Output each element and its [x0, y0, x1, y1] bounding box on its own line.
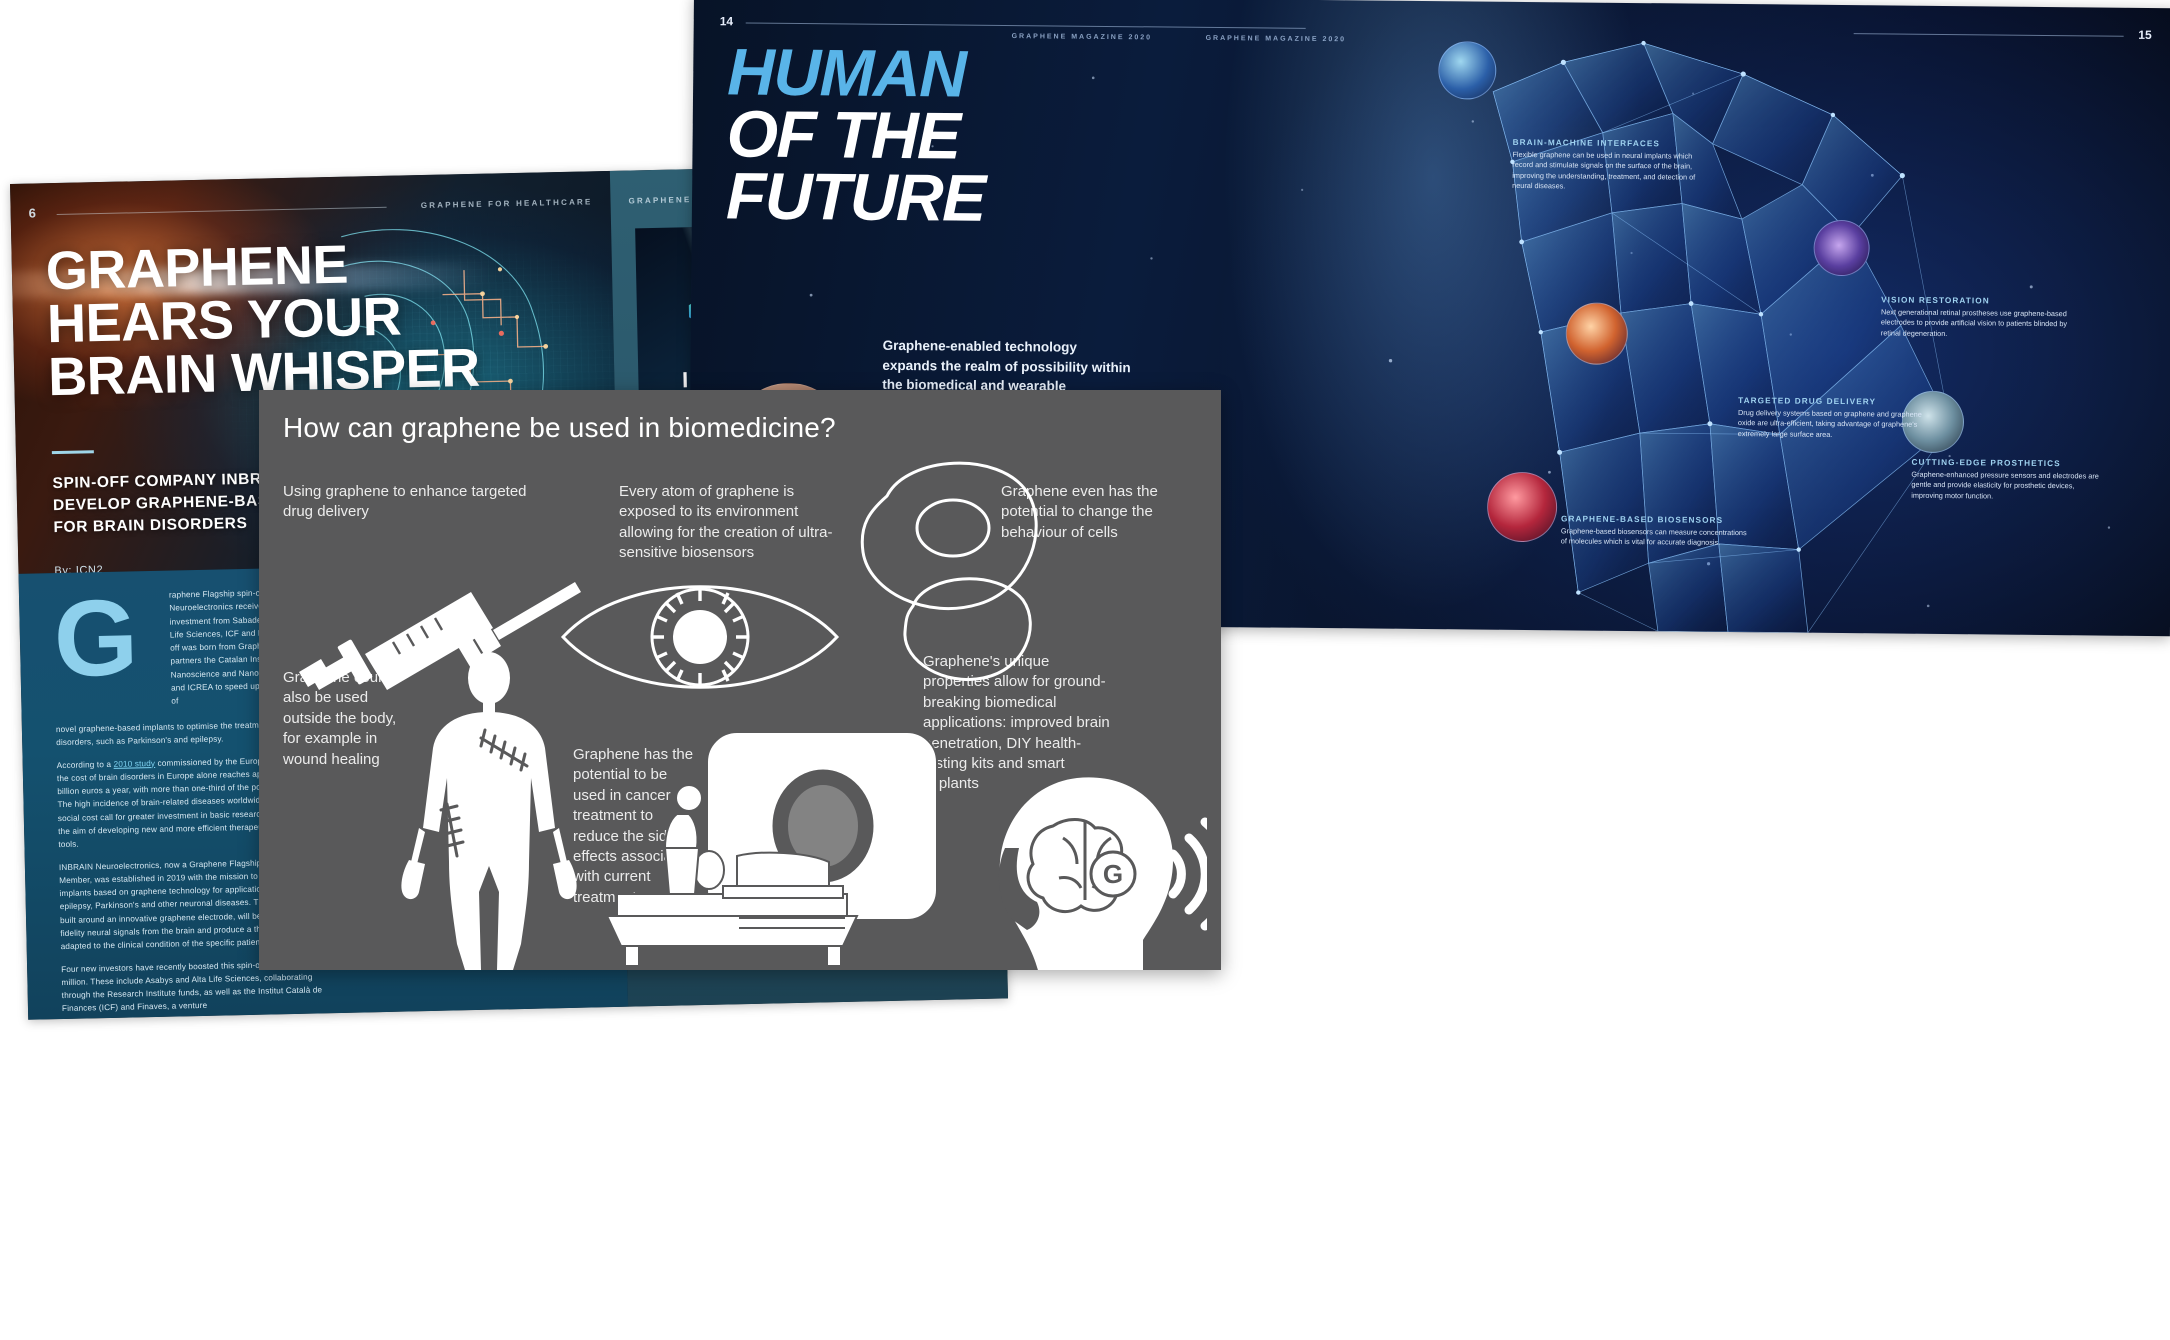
p2-pre: According to a — [57, 759, 114, 769]
spread2-running-head-left: GRAPHENE MAGAZINE 2020 — [1012, 33, 1153, 41]
callout-text: Graphene-enhanced pressure sensors and e… — [1911, 470, 2101, 503]
panel3-text-drug-delivery: Using graphene to enhance targeted drug … — [283, 482, 533, 523]
callout-targeted-drug-delivery: TARGETED DRUG DELIVERY Drug delivery sys… — [1738, 396, 1928, 441]
spread2-page-number-right: 15 — [2138, 28, 2151, 42]
spread1-page-number: 6 — [28, 205, 36, 220]
spread2-running-head-right: GRAPHENE MAGAZINE 2020 — [1206, 35, 1347, 43]
callout-text: Drug delivery systems based on graphene … — [1738, 408, 1928, 441]
spread2-title-line3: FUTURE — [726, 164, 1347, 232]
brain-logo-letter: G — [1103, 859, 1123, 889]
callout-title: TARGETED DRUG DELIVERY — [1738, 396, 1928, 407]
panel3-text-biosensors: Every atom of graphene is exposed to its… — [619, 482, 849, 564]
callout-brain-machine-interfaces: BRAIN-MACHINE INTERFACES Flexible graphe… — [1512, 138, 1703, 193]
spread2-title: HUMAN OF THE FUTURE — [726, 40, 1348, 232]
brain-council-study-link[interactable]: 2010 study — [113, 759, 155, 769]
node-brain-image — [1438, 41, 1497, 100]
callout-title: CUTTING-EDGE PROSTHETICS — [1912, 458, 2102, 469]
screenshot-stage: 6 GRAPHENE FOR HEALTHCARE GRAPHENE HEARS… — [0, 0, 2170, 1340]
node-biosensor-image — [1487, 472, 1558, 543]
cell-outline-small-icon — [895, 566, 1045, 686]
head-brain-signal-icon: G — [967, 698, 1207, 970]
mri-scanner-icon — [589, 680, 959, 970]
node-eye-image — [1813, 220, 1870, 277]
biomedicine-infographic-panel[interactable]: How can graphene be used in biomedicine?… — [259, 390, 1221, 970]
callout-cutting-edge-prosthetics: CUTTING-EDGE PROSTHETICS Graphene-enhanc… — [1911, 458, 2101, 503]
callout-title: GRAPHENE-BASED BIOSENSORS — [1561, 514, 1751, 525]
spread2-page-number-left: 14 — [720, 14, 733, 28]
panel3-title: How can graphene be used in biomedicine? — [283, 412, 836, 444]
callout-graphene-based-biosensors: GRAPHENE-BASED BIOSENSORS Graphene-based… — [1561, 514, 1751, 549]
spread1-dropcap: G — [53, 593, 139, 683]
node-drug-image — [1565, 302, 1628, 365]
callout-vision-restoration: VISION RESTORATION Next generational ret… — [1881, 295, 2071, 340]
human-body-silhouette-icon — [389, 652, 589, 970]
callout-title: VISION RESTORATION — [1881, 295, 2071, 306]
callout-text: Flexible graphene can be used in neural … — [1512, 150, 1702, 193]
spread1-title: GRAPHENE HEARS YOUR BRAIN WHISPER — [45, 233, 588, 403]
callout-text: Next generational retinal prostheses use… — [1881, 307, 2071, 340]
callout-text: Graphene-based biosensors can measure co… — [1561, 526, 1751, 549]
callout-title: BRAIN-MACHINE INTERFACES — [1513, 138, 1703, 149]
